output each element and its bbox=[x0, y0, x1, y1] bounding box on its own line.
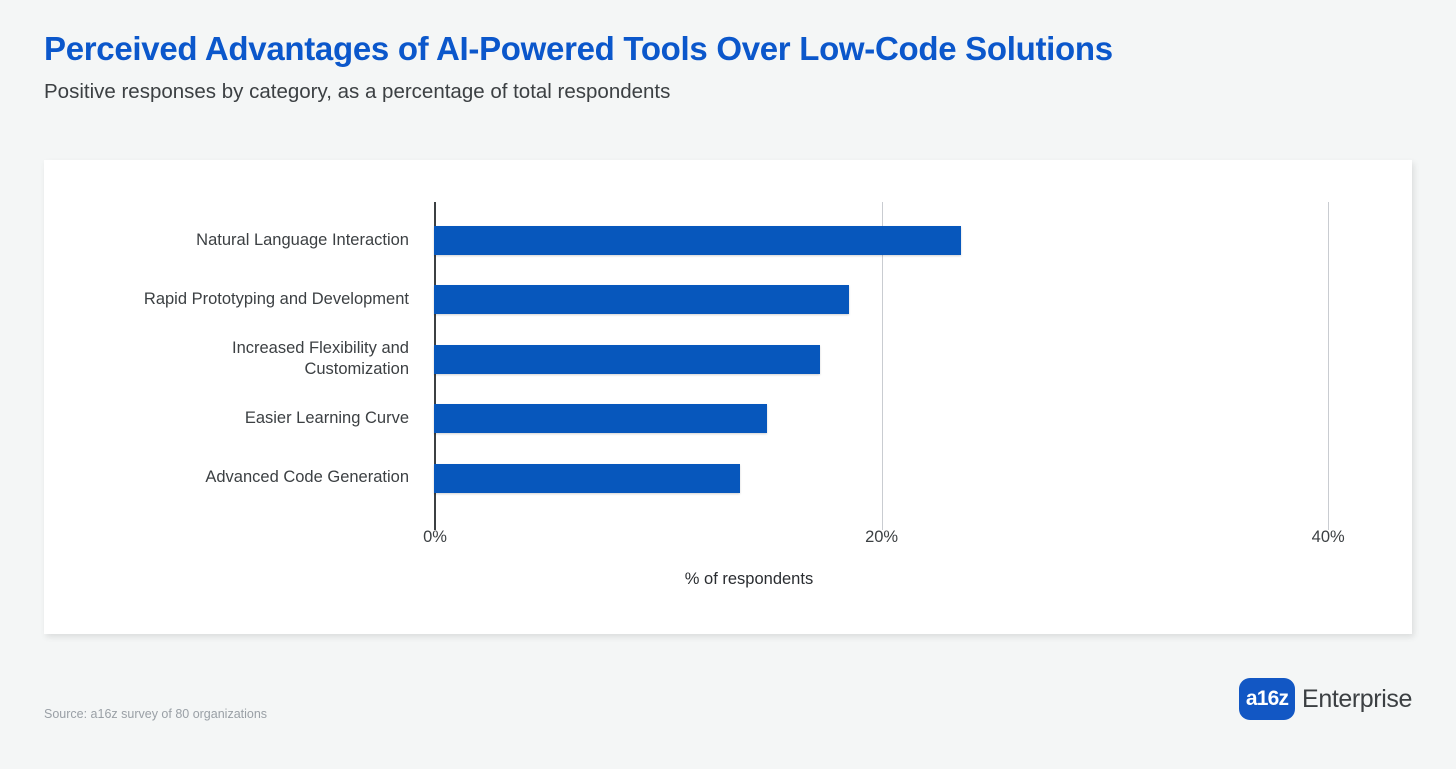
chart-page: Perceived Advantages of AI-Powered Tools… bbox=[0, 0, 1456, 769]
x-axis-title-text: % of respondents bbox=[685, 570, 813, 588]
x-axis-title: % of respondents bbox=[44, 570, 1412, 589]
bar bbox=[434, 404, 767, 433]
bar bbox=[434, 464, 740, 493]
gridline-40% bbox=[1328, 202, 1329, 530]
category-label: Advanced Code Generation bbox=[205, 467, 409, 488]
category-label: Natural Language Interaction bbox=[196, 230, 409, 251]
chart-card: 0%20%40%Natural Language InteractionRapi… bbox=[44, 160, 1412, 634]
chart-header: Perceived Advantages of AI-Powered Tools… bbox=[44, 30, 1404, 105]
page-title: Perceived Advantages of AI-Powered Tools… bbox=[44, 30, 1404, 68]
bar bbox=[434, 226, 961, 255]
category-label: Easier Learning Curve bbox=[245, 408, 409, 429]
category-label: Rapid Prototyping and Development bbox=[144, 289, 409, 310]
a16z-enterprise-logo: a16z Enterprise bbox=[1239, 678, 1412, 720]
page-subtitle: Positive responses by category, as a per… bbox=[44, 80, 1404, 105]
bar-chart-plot: 0%20%40%Natural Language InteractionRapi… bbox=[44, 160, 1412, 634]
x-tick-label: 0% bbox=[423, 528, 447, 547]
source-note: Source: a16z survey of 80 organizations bbox=[44, 707, 267, 721]
a16z-logo-mark: a16z bbox=[1239, 678, 1295, 720]
category-label: Increased Flexibility and Customization bbox=[232, 338, 409, 379]
x-tick-label: 40% bbox=[1312, 528, 1345, 547]
x-tick-label: 20% bbox=[865, 528, 898, 547]
bar bbox=[434, 285, 849, 314]
a16z-logo-wordmark: Enterprise bbox=[1302, 685, 1412, 714]
bar bbox=[434, 345, 820, 374]
